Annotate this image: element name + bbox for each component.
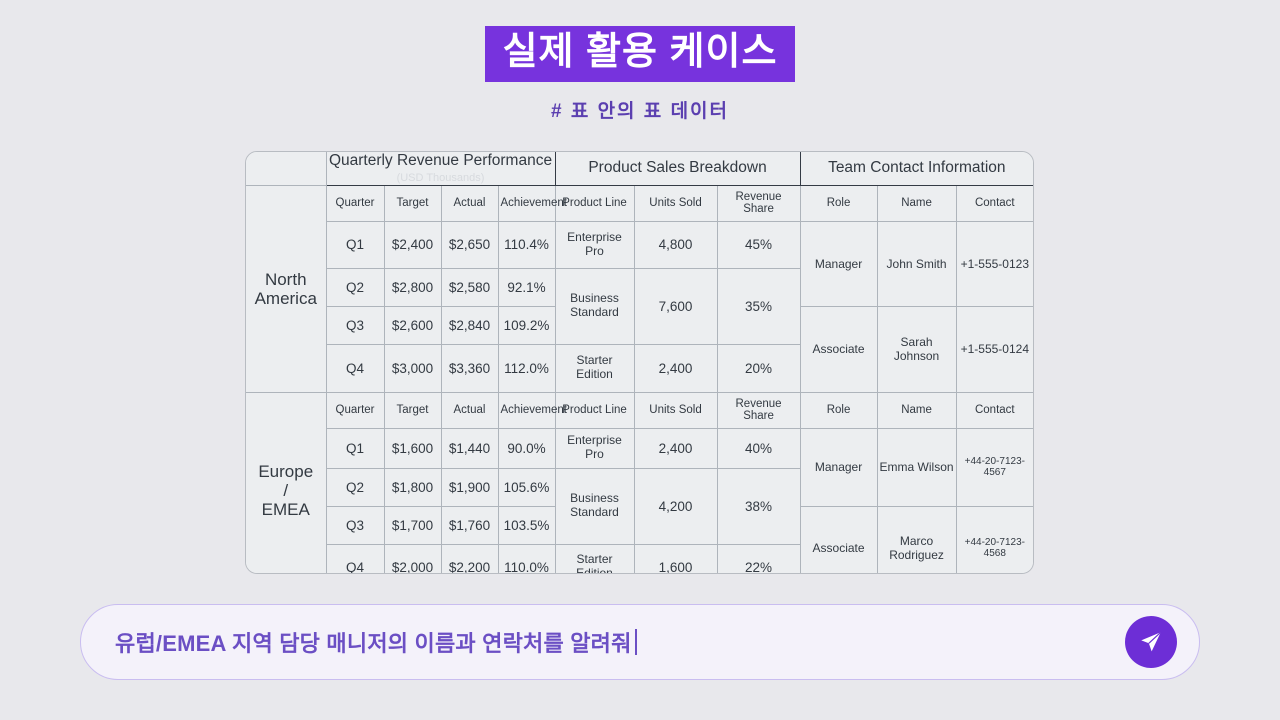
cell-revenue-share: 38% [717,468,800,544]
cell-units-sold: 2,400 [634,344,717,392]
cell-target: $1,600 [384,428,441,468]
cell-quarter: Q4 [326,344,384,392]
cell-quarter: Q4 [326,544,384,574]
region-label-line1: North [248,270,324,289]
cell-product-line-l1: Business [558,492,632,506]
cell-actual: $1,900 [441,468,498,506]
nested-table-card: Quarterly Revenue Performance (USD Thous… [245,151,1034,574]
cell-product-line: Business Standard [555,268,634,344]
group-header-revenue: Quarterly Revenue Performance (USD Thous… [326,152,555,185]
cell-name: Emma Wilson [877,428,956,506]
cell-product-line-l1: Business [558,292,632,306]
col-head-units-sold-na: Units Sold [634,185,717,221]
cell-actual: $2,200 [441,544,498,574]
cell-achievement: 90.0% [498,428,555,468]
prompt-input-bar[interactable]: 유럽/EMEA 지역 담당 매니저의 이름과 연락처를 알려줘 [80,604,1200,680]
cell-target: $2,600 [384,306,441,344]
col-head-actual-na: Actual [441,185,498,221]
col-head-role-na: Role [800,185,877,221]
table-corner-cell [246,152,326,185]
col-head-product-line-na: Product Line [555,185,634,221]
cell-actual: $3,360 [441,344,498,392]
col-head-achievement-na: Achievement [498,185,555,221]
cell-name: Sarah Johnson [877,306,956,392]
cell-revenue-share: 40% [717,428,800,468]
cell-achievement: 103.5% [498,506,555,544]
send-button[interactable] [1125,616,1177,668]
cell-revenue-share: 35% [717,268,800,344]
cell-contact: +1-555-0124 [956,306,1033,392]
col-head-revenue-share-na: Revenue Share [717,185,800,221]
page-subtitle: # 표 안의 표 데이터 [0,96,1280,123]
col-head-name-emea: Name [877,392,956,428]
cell-target: $2,800 [384,268,441,306]
cell-name: John Smith [877,221,956,306]
cell-target: $1,800 [384,468,441,506]
table-group-header-row: Quarterly Revenue Performance (USD Thous… [246,152,1033,185]
cell-product-line: Enterprise Pro [555,428,634,468]
cell-achievement: 110.4% [498,221,555,268]
cell-quarter: Q3 [326,506,384,544]
col-head-quarter-na: Quarter [326,185,384,221]
cell-units-sold: 4,800 [634,221,717,268]
table-subheader-row-emea: Europe / EMEA Quarter Target Actual Achi… [246,392,1033,428]
cell-contact: +44-20-7123-4567 [956,428,1033,506]
col-head-quarter-emea: Quarter [326,392,384,428]
cell-achievement: 92.1% [498,268,555,306]
col-head-actual-emea: Actual [441,392,498,428]
group-header-product-title: Product Sales Breakdown [588,159,766,176]
col-head-achievement-emea: Achievement [498,392,555,428]
cell-actual: $1,760 [441,506,498,544]
cell-product-line: Enterprise Pro [555,221,634,268]
group-header-revenue-title: Quarterly Revenue Performance [329,152,552,169]
cell-role: Associate [800,506,877,574]
cell-revenue-share: 20% [717,344,800,392]
cell-units-sold: 2,400 [634,428,717,468]
group-header-contact-title: Team Contact Information [828,159,1005,176]
region-label-line2: America [248,289,324,308]
cell-name: Marco Rodriguez [877,506,956,574]
col-head-target-na: Target [384,185,441,221]
send-paper-plane-icon [1138,629,1164,655]
region-label-line3: EMEA [248,500,324,519]
cell-units-sold: 1,600 [634,544,717,574]
cell-actual: $2,840 [441,306,498,344]
cell-target: $2,000 [384,544,441,574]
region-label-north-america: North America [246,185,326,392]
cell-achievement: 105.6% [498,468,555,506]
cell-product-line-l2: Standard [558,306,632,320]
cell-revenue-share: 45% [717,221,800,268]
prompt-input-field[interactable]: 유럽/EMEA 지역 담당 매니저의 이름과 연락처를 알려줘 [115,626,1125,658]
region-label-europe-emea: Europe / EMEA [246,392,326,574]
cell-contact: +44-20-7123-4568 [956,506,1033,574]
page-title: 실제 활용 케이스 [485,26,796,82]
cell-actual: $2,650 [441,221,498,268]
cell-revenue-share: 22% [717,544,800,574]
prompt-input-value: 유럽/EMEA 지역 담당 매니저의 이름과 연락처를 알려줘 [115,626,632,658]
cell-role: Manager [800,221,877,306]
cell-product-line: Starter Edition [555,544,634,574]
cell-contact: +1-555-0123 [956,221,1033,306]
text-caret [635,629,637,655]
table-row: Q1 $1,600 $1,440 90.0% Enterprise Pro 2,… [246,428,1033,468]
region-label-line1: Europe [248,462,324,481]
table-row: Q1 $2,400 $2,650 110.4% Enterprise Pro 4… [246,221,1033,268]
cell-target: $3,000 [384,344,441,392]
col-head-contact-na: Contact [956,185,1033,221]
cell-product-line-l2: Standard [558,506,632,520]
group-header-contact: Team Contact Information [800,152,1033,185]
cell-role: Associate [800,306,877,392]
table-subheader-row-na: North America Quarter Target Actual Achi… [246,185,1033,221]
cell-quarter: Q2 [326,468,384,506]
cell-units-sold: 7,600 [634,268,717,344]
cell-product-line: Business Standard [555,468,634,544]
cell-target: $2,400 [384,221,441,268]
region-label-line2: / [248,481,324,500]
col-head-role-emea: Role [800,392,877,428]
cell-achievement: 109.2% [498,306,555,344]
cell-role: Manager [800,428,877,506]
cell-product-line: Starter Edition [555,344,634,392]
group-header-revenue-sub: (USD Thousands) [329,172,553,185]
nested-data-table: Quarterly Revenue Performance (USD Thous… [246,152,1033,574]
cell-quarter: Q2 [326,268,384,306]
cell-achievement: 112.0% [498,344,555,392]
col-head-contact-emea: Contact [956,392,1033,428]
cell-actual: $1,440 [441,428,498,468]
col-head-units-sold-emea: Units Sold [634,392,717,428]
cell-units-sold: 4,200 [634,468,717,544]
cell-target: $1,700 [384,506,441,544]
col-head-target-emea: Target [384,392,441,428]
cell-quarter: Q1 [326,221,384,268]
page-header: 실제 활용 케이스 # 표 안의 표 데이터 [0,0,1280,123]
col-head-name-na: Name [877,185,956,221]
cell-achievement: 110.0% [498,544,555,574]
cell-actual: $2,580 [441,268,498,306]
group-header-product: Product Sales Breakdown [555,152,800,185]
col-head-product-line-emea: Product Line [555,392,634,428]
cell-quarter: Q3 [326,306,384,344]
cell-quarter: Q1 [326,428,384,468]
col-head-revenue-share-emea: Revenue Share [717,392,800,428]
